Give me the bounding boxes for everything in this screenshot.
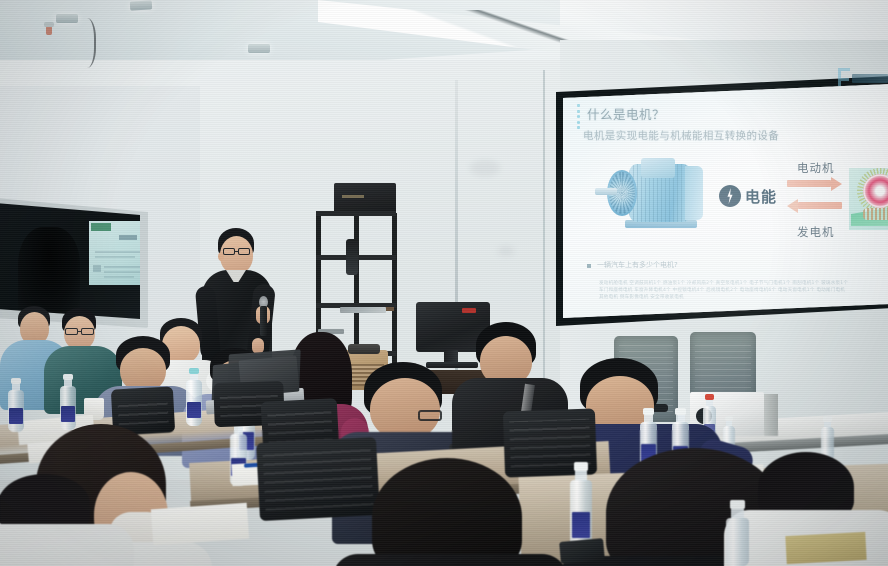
presenter-glasses-icon	[223, 248, 251, 256]
shelf-item	[346, 239, 358, 275]
electric-motor-image	[601, 146, 715, 244]
attendee-head	[370, 378, 440, 440]
tv-slide-line	[119, 235, 137, 240]
shelf-item	[340, 307, 386, 313]
wall-corner-graphic	[838, 66, 888, 92]
slide-canvas: 什么是电机？ 电机是实现电能与机械能相互转换的设备 电能 电动机	[563, 84, 888, 318]
generator-direction-label: 发电机	[797, 224, 835, 240]
tv-slide-line	[104, 276, 134, 278]
microphone-handle	[260, 306, 267, 336]
tv-slide-line	[95, 251, 140, 253]
tv-slide-line	[104, 271, 140, 273]
notepad	[151, 503, 249, 546]
tv-slide-accent	[91, 223, 111, 231]
wall-seam	[543, 70, 545, 400]
downlight-icon	[130, 0, 152, 10]
wall-mark	[498, 246, 514, 256]
slide-body-line: 发动机舱电机 空调鼓风机1个 燃油泵1个 冷却风扇2个 真空泵电机1个 电子节气…	[599, 280, 848, 286]
generator-coil-image	[849, 168, 888, 230]
storage-box	[334, 183, 396, 213]
slide-title: 什么是电机？	[587, 104, 837, 123]
bullet-text: 一辆汽车上有多少个电机?	[597, 260, 678, 270]
slide-body-line: 其他电机 倒车影像电机 安全带收紧电机	[599, 294, 684, 300]
attendee-torso	[0, 524, 134, 566]
monitor-cable	[74, 18, 96, 68]
electric-energy-logo: 电能	[719, 182, 797, 212]
monitor-brand-logo-icon	[462, 308, 476, 313]
presentation-screen[interactable]: 什么是电机？ 电机是实现电能与机械能相互转换的设备 电能 电动机	[563, 84, 888, 318]
tv-slide-line	[104, 266, 140, 268]
energy-label: 电能	[745, 186, 777, 207]
slide-body-line: 车门和座椅电机 车窗升降电机4个 中控锁电机4个 后视镜电机2个 电动座椅电机6…	[599, 287, 845, 293]
meeting-chair[interactable]	[256, 437, 380, 521]
wall-tv-screen[interactable]	[0, 203, 140, 321]
slide-subtitle: 电机是实现电能与机械能相互转换的设备	[583, 128, 863, 143]
equipment-box-side	[764, 394, 778, 436]
wall-mark	[470, 160, 500, 176]
tv-slide-content	[89, 221, 140, 285]
slide-decor-dots	[577, 104, 581, 126]
attendee-hair	[372, 458, 522, 566]
sprinkler-icon	[46, 26, 52, 35]
tv-slide-line	[93, 265, 101, 272]
tv-slide-line	[95, 256, 135, 258]
conference-room-scene: 什么是电机？ 电机是实现电能与机械能相互转换的设备 电能 电动机	[0, 0, 888, 566]
notebook	[785, 532, 866, 564]
downlight-icon	[248, 44, 270, 53]
attendee-glasses-icon	[418, 410, 444, 422]
attendee-glasses-icon	[65, 328, 95, 336]
bullet-marker-icon	[587, 264, 591, 268]
smartphone[interactable]	[559, 538, 605, 564]
motor-direction-label: 电动机	[797, 160, 835, 176]
attendee-torso	[332, 554, 568, 566]
